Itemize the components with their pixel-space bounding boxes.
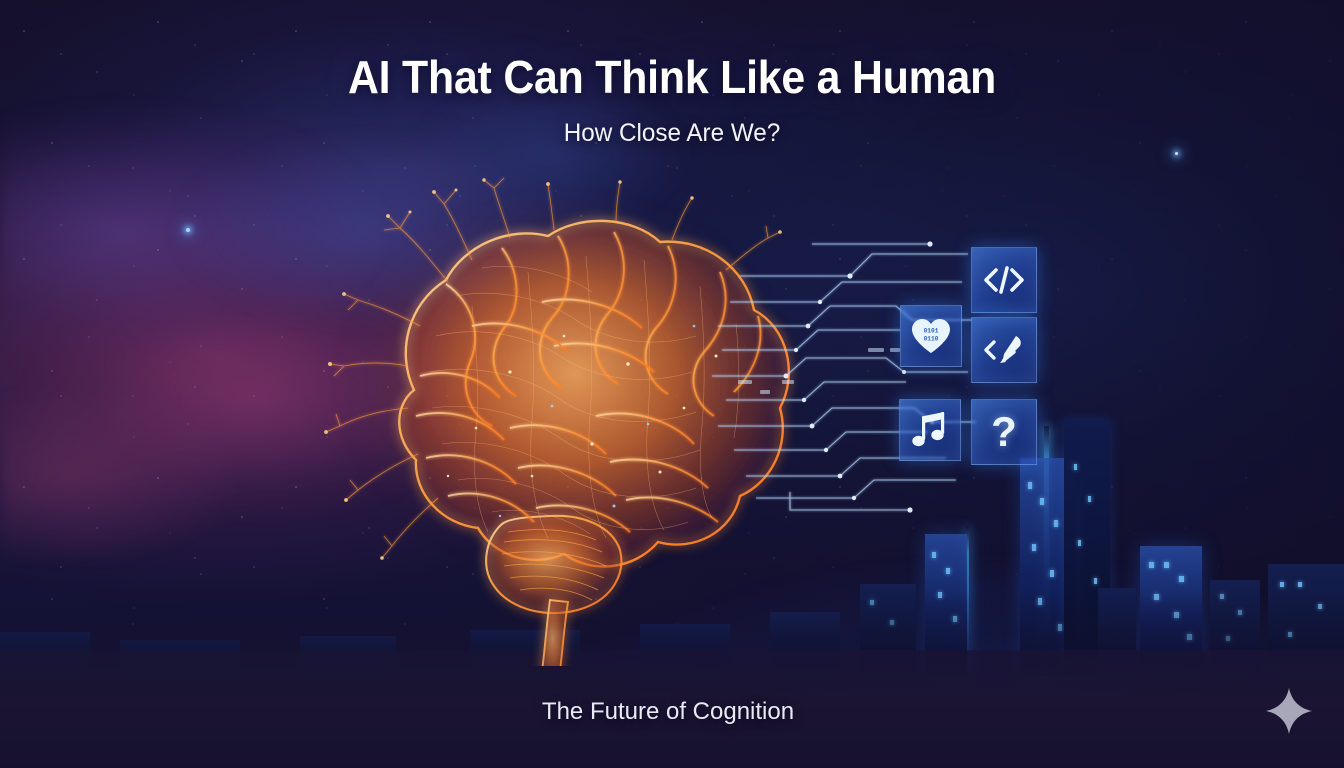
binary-heart-icon: 0101 0110 xyxy=(909,316,953,356)
footer-caption-text: The Future of Cognition xyxy=(542,698,794,726)
four-point-sparkle-icon xyxy=(1264,686,1314,736)
circuit-traces xyxy=(700,230,1120,520)
footer-caption: The Future of Cognition xyxy=(0,698,1344,726)
page-title: AI That Can Think Like a Human xyxy=(47,50,1297,104)
panel-emotion[interactable]: 0101 0110 xyxy=(900,305,962,367)
music-note-icon xyxy=(910,410,950,450)
bright-star xyxy=(1175,152,1178,155)
heart-binary-bottom: 0110 xyxy=(924,336,939,343)
panel-creativity[interactable] xyxy=(971,317,1037,383)
circuit-trace-svg xyxy=(700,230,1120,520)
code-brackets-icon xyxy=(983,265,1025,295)
panel-music[interactable] xyxy=(899,399,961,461)
page-subtitle: How Close Are We? xyxy=(20,119,1324,148)
question-mark-icon: ? xyxy=(991,411,1017,453)
heart-binary-top: 0101 xyxy=(924,328,939,335)
presentation-slide: 0101 0110 ? AI That Can Think xyxy=(0,0,1344,768)
bright-star xyxy=(186,228,190,232)
code-brush-icon xyxy=(982,332,1026,368)
panel-question[interactable]: ? xyxy=(971,399,1037,465)
panel-code[interactable] xyxy=(971,247,1037,313)
